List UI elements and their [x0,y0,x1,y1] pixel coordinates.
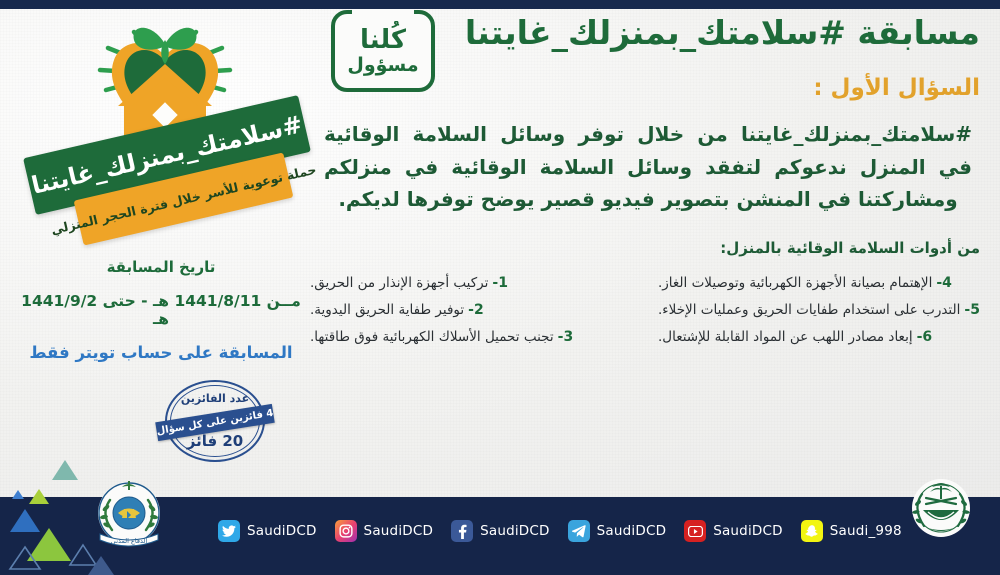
svg-text:الدفاع المدني: الدفاع المدني [111,537,148,545]
list-item: 1- تركيب أجهزة الإنذار من الحريق. [310,275,508,291]
list-item-text: توفير طفاية الحريق اليدوية. [310,302,464,318]
social-handle: Saudi_998 [830,523,902,539]
competition-date-range: مــن 1441/8/11 هـ - حتى 1441/9/2 هـ [20,292,302,328]
badge-top-text: عدد الفائزين [163,392,267,405]
decor-triangle-teal [52,460,78,480]
twitter-only-note: المسابقة على حساب تويتر فقط [20,343,302,362]
list-item: 2- توفير طفاية الحريق اليدوية. [310,302,484,318]
competition-info: تاريخ المسابقة مــن 1441/8/11 هـ - حتى 1… [20,258,302,362]
social-handle: SaudiDCD [480,523,550,539]
list-item-text: التدرب على استخدام طفايات الحريق وعمليات… [658,302,960,318]
question-paragraph: #سلامتك_بمنزلك_غايتنا من خلال توفر وسائل… [310,118,986,215]
list-item: 4- الإهتمام بصيانة الأجهزة الكهربائية وت… [658,275,952,291]
facebook-icon [451,520,473,542]
tools-list-left: 4- الإهتمام بصيانة الأجهزة الكهربائية وت… [656,275,986,345]
list-item: 3- تجنب تحميل الأسلاك الكهربائية فوق طاق… [310,329,573,345]
poster-root: #سلامتك_بمنزلك_غايتنا حملة توعوية للأسر … [0,0,1000,575]
list-item-number: 5- [964,302,980,318]
decor-triangle-lime-small [29,489,49,504]
list-item-number: 3- [558,329,574,345]
badge-bottom-text: 20 فائز [163,432,267,450]
list-item-text: الإهتمام بصيانة الأجهزة الكهربائية وتوصي… [658,275,932,291]
social-links-row: SaudiDCD SaudiDCD SaudiDCD SaudiDCD [218,514,838,548]
saudi-civil-defense-emblem: الدفاع المدني [92,478,166,552]
social-link-instagram[interactable]: SaudiDCD [335,520,434,542]
tools-list-right: 1- تركيب أجهزة الإنذار من الحريق. 2- توف… [310,275,646,345]
list-item-text: تجنب تحميل الأسلاك الكهربائية فوق طاقتها… [310,329,554,345]
decor-triangle-small-blue [12,490,24,499]
social-link-facebook[interactable]: SaudiDCD [451,520,550,542]
kullna-line-2: مسؤول [347,55,418,76]
list-item-number: 4- [936,275,952,291]
instagram-icon [335,520,357,542]
competition-date-title: تاريخ المسابقة [20,258,302,276]
saudi-ministry-of-interior-emblem [906,474,976,544]
top-navy-strip [0,0,1000,9]
social-link-youtube[interactable]: SaudiDCD [684,520,783,542]
list-item-text: إبعاد مصادر اللهب عن المواد القابلة للإش… [658,329,913,345]
tools-section-label: من أدوات السلامة الوقائية بالمنزل: [310,239,986,257]
list-item: 6- إبعاد مصادر اللهب عن المواد القابلة ل… [658,329,932,345]
decor-triangle-slate [88,556,114,575]
social-link-snapchat[interactable]: Saudi_998 [801,520,902,542]
snapchat-icon [801,520,823,542]
kullna-masool-logo: كُلنا مسؤول [331,10,435,92]
list-item-number: 2- [468,302,484,318]
social-handle: SaudiDCD [713,523,783,539]
twitter-icon [218,520,240,542]
telegram-icon [568,520,590,542]
social-link-telegram[interactable]: SaudiDCD [568,520,667,542]
list-item: 5- التدرب على استخدام طفايات الحريق وعمل… [658,302,980,318]
kullna-line-1: كُلنا [360,27,406,53]
social-handle: SaudiDCD [247,523,317,539]
youtube-icon [684,520,706,542]
social-link-twitter[interactable]: SaudiDCD [218,520,317,542]
winners-badge: عدد الفائزين 4 فائزين على كل سؤال 20 فائ… [163,376,267,464]
social-handle: SaudiDCD [597,523,667,539]
list-item-number: 6- [917,329,933,345]
tools-lists: 4- الإهتمام بصيانة الأجهزة الكهربائية وت… [310,275,986,345]
social-handle: SaudiDCD [364,523,434,539]
list-item-number: 1- [492,275,508,291]
list-item-text: تركيب أجهزة الإنذار من الحريق. [310,275,488,291]
campaign-logo: #سلامتك_بمنزلك_غايتنا حملة توعوية للأسر … [18,8,318,243]
decor-triangle-outline-left [8,545,42,575]
